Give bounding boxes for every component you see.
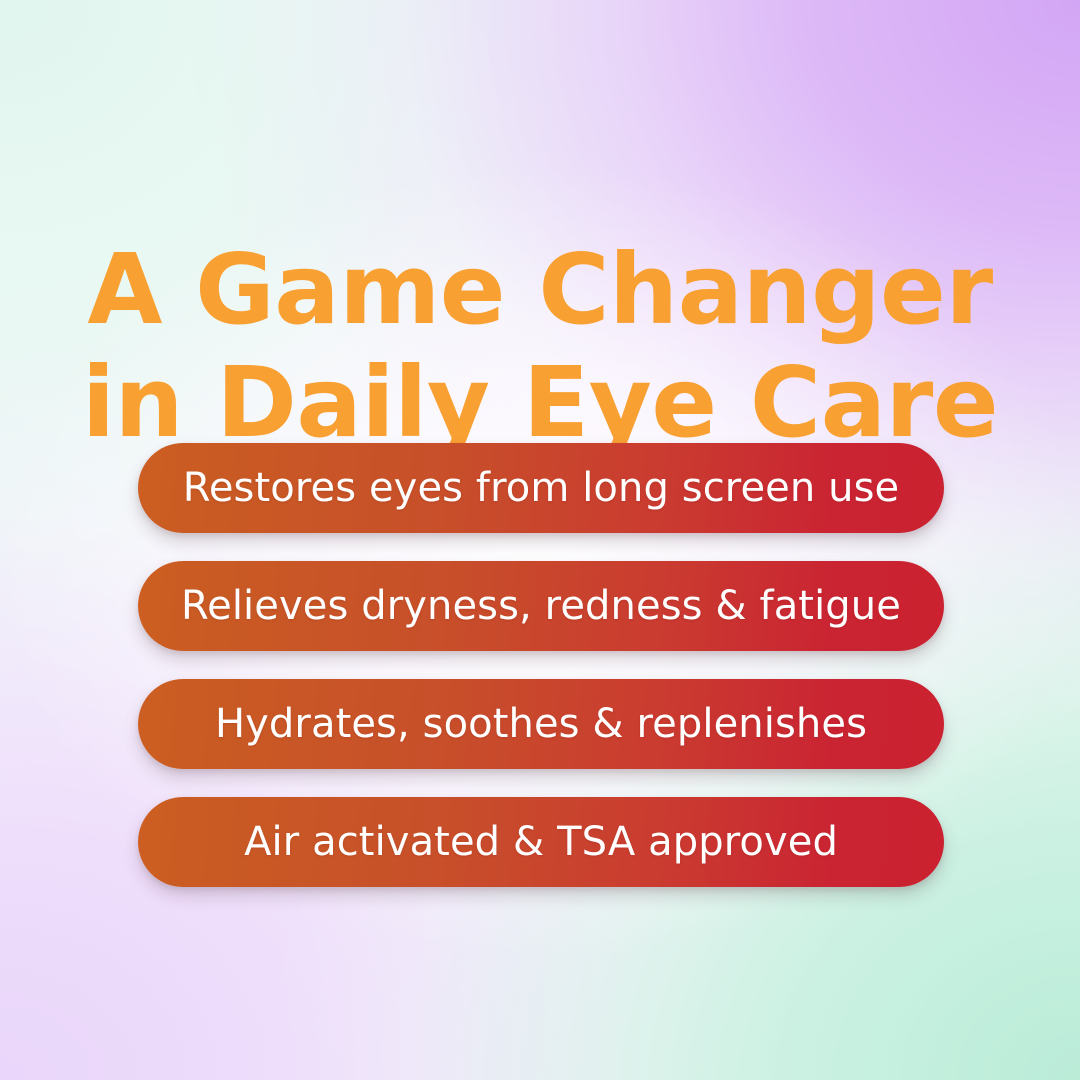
benefit-pill-3: Hydrates, soothes & replenishes	[138, 679, 944, 769]
poster-content: A Game Changer in Daily Eye Care Restore…	[0, 0, 1080, 1080]
benefit-pill-label: Relieves dryness, redness & fatigue	[181, 586, 901, 626]
benefit-pill-label: Restores eyes from long screen use	[183, 468, 900, 508]
benefit-pill-1: Restores eyes from long screen use	[138, 443, 944, 533]
benefit-list: Restores eyes from long screen use Relie…	[138, 443, 944, 887]
page-title: A Game Changer in Daily Eye Care	[0, 233, 1080, 459]
benefit-pill-4: Air activated & TSA approved	[138, 797, 944, 887]
benefit-pill-label: Air activated & TSA approved	[244, 822, 838, 862]
page-title-line-1: A Game Changer	[0, 233, 1080, 346]
benefit-pill-label: Hydrates, soothes & replenishes	[215, 704, 867, 744]
poster-canvas: A Game Changer in Daily Eye Care Restore…	[0, 0, 1080, 1080]
benefit-pill-2: Relieves dryness, redness & fatigue	[138, 561, 944, 651]
